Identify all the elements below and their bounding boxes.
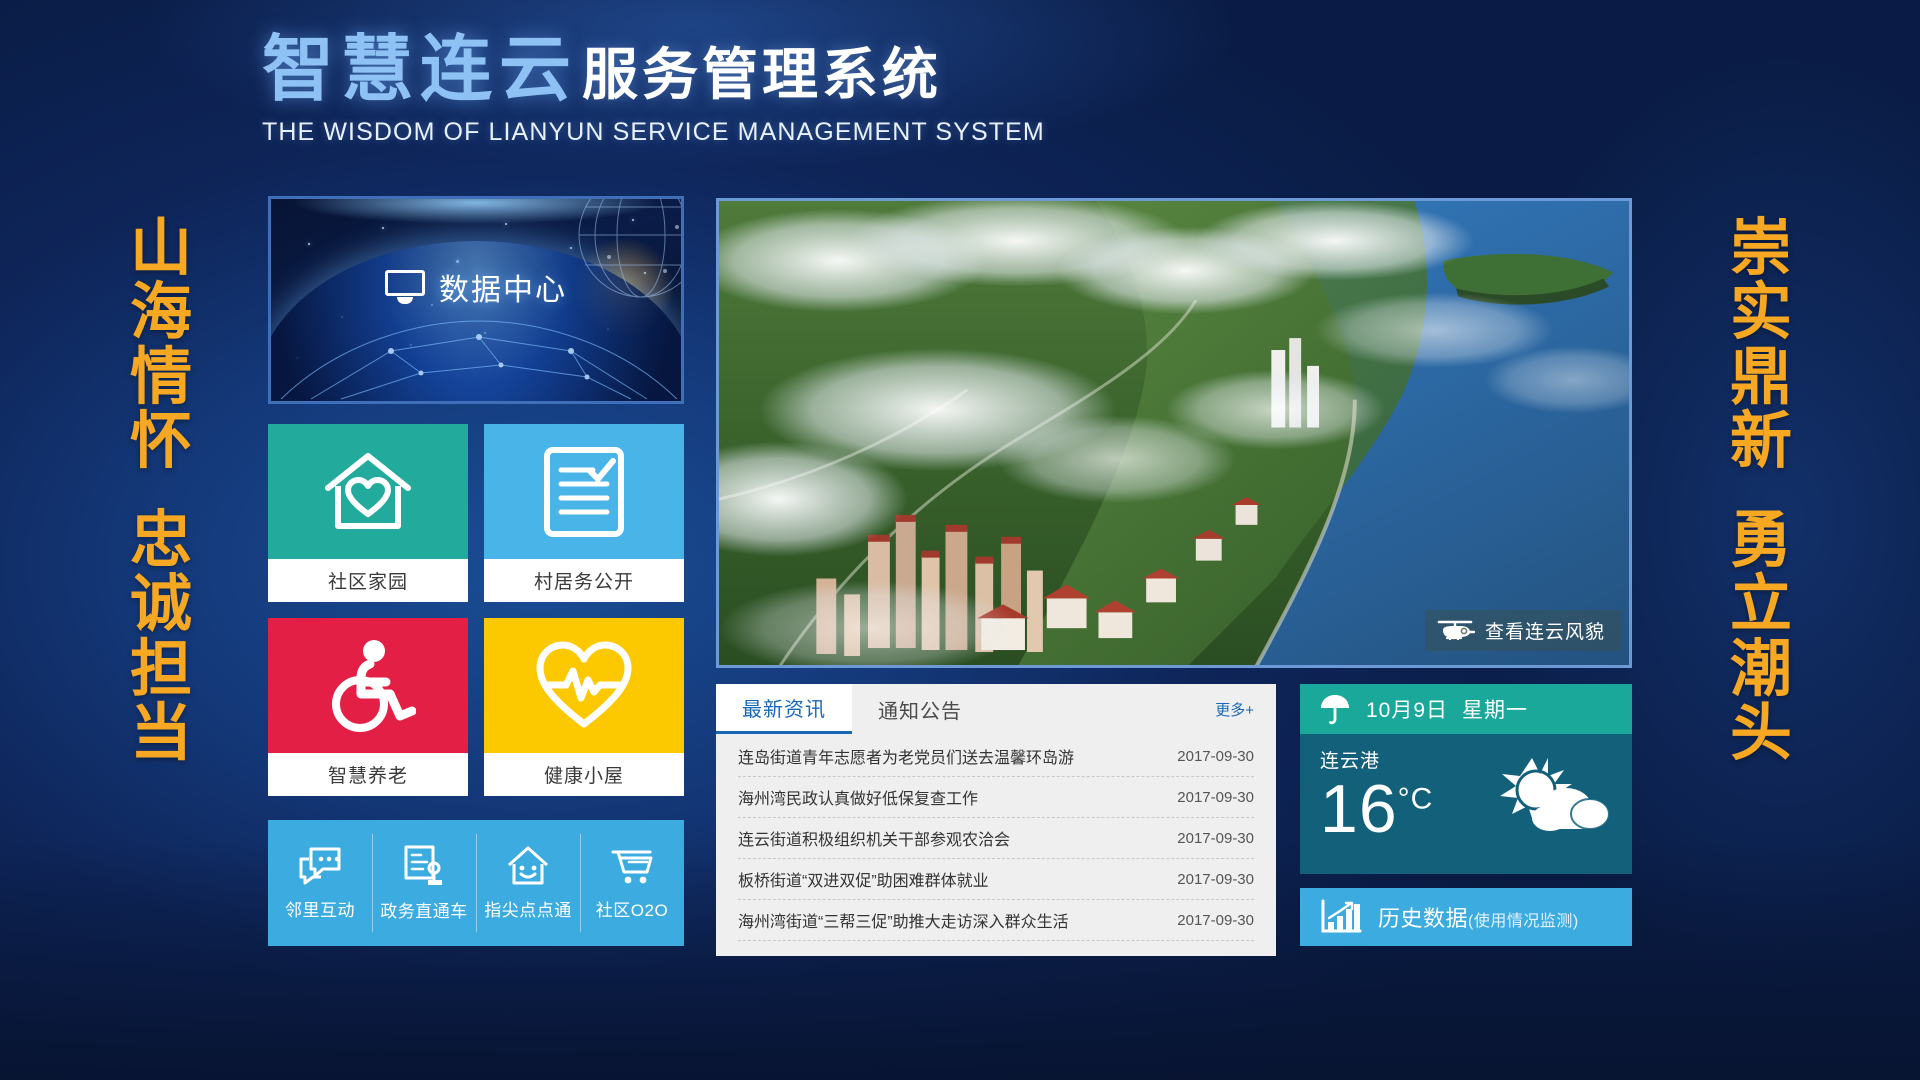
weather-body: 连云港 16°C [1300, 734, 1632, 874]
tab-announcements[interactable]: 通知公告 [852, 684, 988, 734]
slogan-char: 怀 [106, 409, 216, 473]
tile-community-home[interactable]: 社区家园 [268, 424, 468, 602]
quick-link-community-o2o[interactable]: 社区O2O [580, 820, 684, 946]
news-list-item[interactable]: 海州湾民政认真做好低保复查工作 2017-09-30 [738, 777, 1254, 818]
news-title: 板桥街道“双进双促”助困难群体就业 [738, 867, 1177, 891]
tab-latest-news[interactable]: 最新资讯 [716, 684, 852, 734]
document-check-icon [541, 444, 627, 540]
tile-health-cabin[interactable]: 健康小屋 [484, 618, 684, 796]
news-list-item[interactable]: 连岛街道青年志愿者为老党员们送去温馨环岛游 2017-09-30 [738, 736, 1254, 777]
news-list: 连岛街道青年志愿者为老党员们送去温馨环岛游 2017-09-30 海州湾民政认真… [716, 734, 1276, 941]
slogan-char: 海 [106, 280, 216, 344]
shopping-cart-icon [609, 845, 655, 887]
news-panel: 最新资讯 通知公告 更多+ 连岛街道青年志愿者为老党员们送去温馨环岛游 2017… [716, 684, 1276, 956]
news-date: 2017-09-30 [1177, 748, 1254, 765]
weather-panel: 10月9日 星期一 连云港 16°C [1300, 684, 1632, 874]
slogan-char: 崇 [1706, 216, 1816, 280]
tile-art [268, 618, 468, 753]
slogan-left: 山 海 情 怀 忠 诚 担 当 [106, 216, 216, 766]
news-title: 海州湾民政认真做好低保复查工作 [738, 785, 1177, 809]
slogan-char: 诚 [106, 572, 216, 636]
quick-link-label: 邻里互动 [285, 896, 355, 921]
data-center-panel[interactable]: 数据中心 [268, 196, 684, 404]
news-list-item[interactable]: 板桥街道“双进双促”助困难群体就业 2017-09-30 [738, 859, 1254, 900]
news-title: 海州湾街道“三帮三促”助推大走访深入群众生活 [738, 908, 1177, 932]
quick-link-label: 社区O2O [596, 896, 668, 921]
slogan-char: 担 [106, 637, 216, 701]
hero-caption[interactable]: 查看连云风貌 [1425, 610, 1621, 651]
weather-condition [1494, 752, 1614, 857]
feature-tiles: 社区家园 村居务公开 [268, 424, 684, 796]
chat-bubbles-icon [297, 845, 343, 887]
data-center-label: 数据中心 [439, 265, 567, 309]
quick-link-label: 指尖点点通 [484, 896, 572, 921]
slogan-char: 实 [1706, 280, 1816, 344]
slogan-right: 崇 实 鼎 新 勇 立 潮 头 [1706, 216, 1816, 766]
news-date: 2017-09-30 [1177, 912, 1254, 929]
news-date: 2017-09-30 [1177, 830, 1254, 847]
tile-art [484, 424, 684, 559]
quick-link-fingertip[interactable]: 指尖点点通 [476, 820, 580, 946]
quick-link-government-express[interactable]: 政务直通车 [372, 820, 476, 946]
quick-link-neighborhood[interactable]: 邻里互动 [268, 820, 372, 946]
history-data-label-group: 历史数据(使用情况监测) [1378, 901, 1579, 933]
weather-unit: °C [1398, 782, 1434, 815]
data-center-label-group: 数据中心 [271, 265, 681, 309]
history-data-label: 历史数据 [1378, 906, 1468, 931]
slogan-char: 勇 [1706, 508, 1816, 572]
history-data-button[interactable]: 历史数据(使用情况监测) [1300, 888, 1632, 946]
page-title: 智慧连云服务管理系统 [262, 34, 1920, 106]
slogan-char: 鼎 [1706, 345, 1816, 409]
title-main: 智慧连云 [262, 30, 578, 110]
tile-label: 健康小屋 [484, 753, 684, 796]
news-more-link[interactable]: 更多+ [1215, 684, 1276, 734]
slogan-char: 立 [1706, 572, 1816, 636]
slogan-char: 忠 [106, 508, 216, 572]
title-sub: 服务管理系统 [582, 43, 942, 106]
news-date: 2017-09-30 [1177, 871, 1254, 888]
tile-label: 村居务公开 [484, 559, 684, 602]
tile-smart-elderly-care[interactable]: 智慧养老 [268, 618, 468, 796]
weather-date: 10月9日 [1366, 694, 1448, 724]
hero-image-panel[interactable]: 查看连云风貌 [716, 198, 1632, 668]
hero-caption-label: 查看连云风貌 [1485, 617, 1605, 644]
umbrella-icon [1318, 692, 1352, 726]
page-header: 智慧连云服务管理系统 THE WISDOM OF LIANYUN SERVICE… [0, 34, 1920, 147]
bar-chart-icon [1320, 898, 1362, 936]
quick-link-label: 政务直通车 [380, 897, 468, 922]
tile-label: 社区家园 [268, 559, 468, 602]
helicopter-icon [1437, 618, 1475, 644]
tile-art [484, 618, 684, 753]
house-heart-icon [320, 446, 416, 538]
news-list-item[interactable]: 连云街道积极组织机关干部参观农洽会 2017-09-30 [738, 818, 1254, 859]
heart-pulse-icon [534, 640, 634, 732]
news-tab-bar: 最新资讯 通知公告 更多+ [716, 684, 1276, 734]
document-stamp-icon [401, 844, 447, 888]
sun-cloud-icon [1494, 752, 1614, 852]
news-title: 连岛街道青年志愿者为老党员们送去温馨环岛游 [738, 744, 1177, 768]
smiling-house-icon [505, 845, 551, 887]
wheelchair-icon [320, 638, 416, 734]
slogan-char: 山 [106, 216, 216, 280]
tile-label: 智慧养老 [268, 753, 468, 796]
slogan-char: 情 [106, 345, 216, 409]
tile-village-affairs[interactable]: 村居务公开 [484, 424, 684, 602]
news-list-item[interactable]: 海州湾街道“三帮三促”助推大走访深入群众生活 2017-09-30 [738, 900, 1254, 941]
slogan-char: 头 [1706, 701, 1816, 765]
slogan-char: 潮 [1706, 637, 1816, 701]
tile-art [268, 424, 468, 559]
history-data-sublabel: (使用情况监测) [1468, 913, 1579, 930]
news-title: 连云街道积极组织机关干部参观农洽会 [738, 826, 1177, 850]
weather-temperature: 16 [1320, 771, 1398, 847]
aerial-city-photo [719, 201, 1629, 668]
quick-links-bar: 邻里互动 政务直通车 指尖点点通 [268, 820, 684, 946]
slogan-char: 新 [1706, 409, 1816, 473]
weather-header: 10月9日 星期一 [1300, 684, 1632, 734]
slogan-char: 当 [106, 701, 216, 765]
news-date: 2017-09-30 [1177, 789, 1254, 806]
title-english: THE WISDOM OF LIANYUN SERVICE MANAGEMENT… [262, 118, 1920, 147]
monitor-icon [385, 270, 425, 304]
weather-weekday: 星期一 [1462, 694, 1528, 724]
